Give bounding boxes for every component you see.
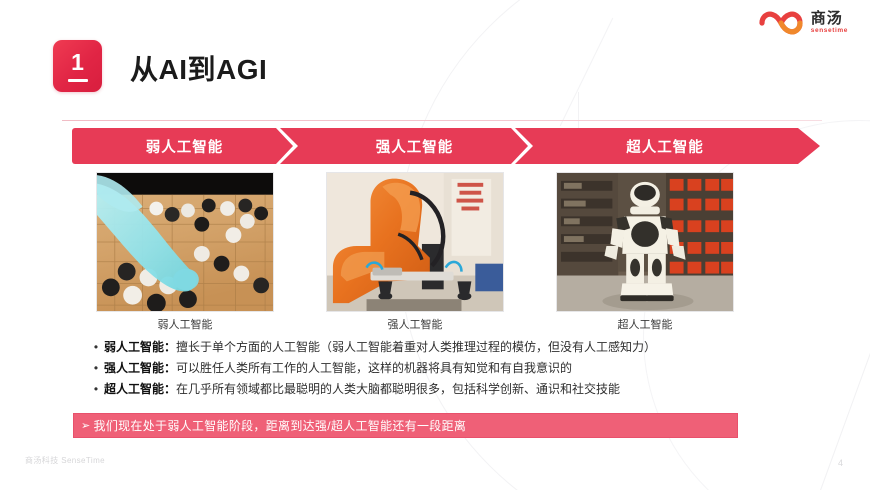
go-board-photo [96, 172, 274, 312]
stage-label-weak: 弱人工智能 [146, 136, 224, 157]
decorative-diagonal-line-top [560, 18, 614, 126]
bullet-term: 弱人工智能 [104, 338, 164, 357]
caption-weak: 弱人工智能 [96, 316, 274, 332]
badge-underline [68, 79, 88, 82]
stage-label-super: 超人工智能 [626, 136, 704, 157]
section-number: 1 [71, 51, 84, 74]
bullet-separator: ： [164, 338, 176, 357]
page-title: 从AI到AGI [130, 48, 267, 88]
bullet-description: 擅长于单个方面的人工智能（弱人工智能着重对人类推理过程的模仿，但没有人工感知力） [176, 338, 656, 357]
bullet-description: 在几乎所有领域都比最聪明的人类大脑都聪明很多，包括科学创新、通识和社交技能 [176, 380, 620, 399]
bullet-term: 超人工智能 [104, 380, 164, 399]
bullet-marker: • [88, 359, 104, 378]
list-item: • 超人工智能 ： 在几乎所有领域都比最聪明的人类大脑都聪明很多，包括科学创新、… [88, 380, 812, 399]
humanoid-robot-photo [556, 172, 734, 312]
list-item: • 弱人工智能 ： 擅长于单个方面的人工智能（弱人工智能着重对人类推理过程的模仿… [88, 338, 812, 357]
stage-segment-strong: 强人工智能 [297, 128, 532, 164]
thumbnail-row [96, 172, 736, 312]
section-number-badge: 1 [53, 40, 102, 92]
logo-chinese-text: 商汤 [811, 11, 848, 26]
humanoid-robot-image [557, 173, 733, 311]
industrial-robot-arm-photo [326, 172, 504, 312]
sensetime-logo: 商汤 sensetime [758, 10, 848, 36]
caption-super: 超人工智能 [556, 316, 734, 332]
stage-segment-weak: 弱人工智能 [72, 128, 297, 164]
arrow-bullet-icon: ➢ [81, 419, 91, 432]
go-board-image [97, 173, 273, 311]
stage-segment-super: 超人工智能 [532, 128, 798, 164]
bullet-description: 可以胜任人类所有工作的人工智能，这样的机器将具有知觉和有自我意识的 [176, 359, 572, 378]
page-number: 4 [838, 458, 843, 468]
callout-text: 我们现在处于弱人工智能阶段，距离到达强/超人工智能还有一段距离 [94, 417, 467, 434]
definition-list: • 弱人工智能 ： 擅长于单个方面的人工智能（弱人工智能着重对人类推理过程的模仿… [88, 338, 812, 401]
bullet-marker: • [88, 380, 104, 399]
slide: 商汤 sensetime 1 从AI到AGI 弱人工智能 强人工智能 超人工智能 [0, 0, 870, 490]
footer-brand: 商汤科技 SenseTime [25, 455, 105, 466]
thumbnail-caption-row: 弱人工智能 强人工智能 超人工智能 [96, 316, 736, 332]
bullet-marker: • [88, 338, 104, 357]
caption-strong: 强人工智能 [326, 316, 504, 332]
stage-chevron-banner: 弱人工智能 强人工智能 超人工智能 [72, 128, 798, 164]
robot-arm-image [327, 173, 503, 311]
list-item: • 强人工智能 ： 可以胜任人类所有工作的人工智能，这样的机器将具有知觉和有自我… [88, 359, 812, 378]
bullet-separator: ： [164, 359, 176, 378]
stage-label-strong: 强人工智能 [376, 136, 454, 157]
bullet-term: 强人工智能 [104, 359, 164, 378]
bullet-separator: ： [164, 380, 176, 399]
logo-english-text: sensetime [811, 28, 848, 35]
logo-wordmark: 商汤 sensetime [811, 11, 848, 35]
title-divider [62, 120, 822, 121]
infinity-swirl-icon [758, 10, 804, 36]
conclusion-callout: ➢ 我们现在处于弱人工智能阶段，距离到达强/超人工智能还有一段距离 [73, 413, 738, 438]
